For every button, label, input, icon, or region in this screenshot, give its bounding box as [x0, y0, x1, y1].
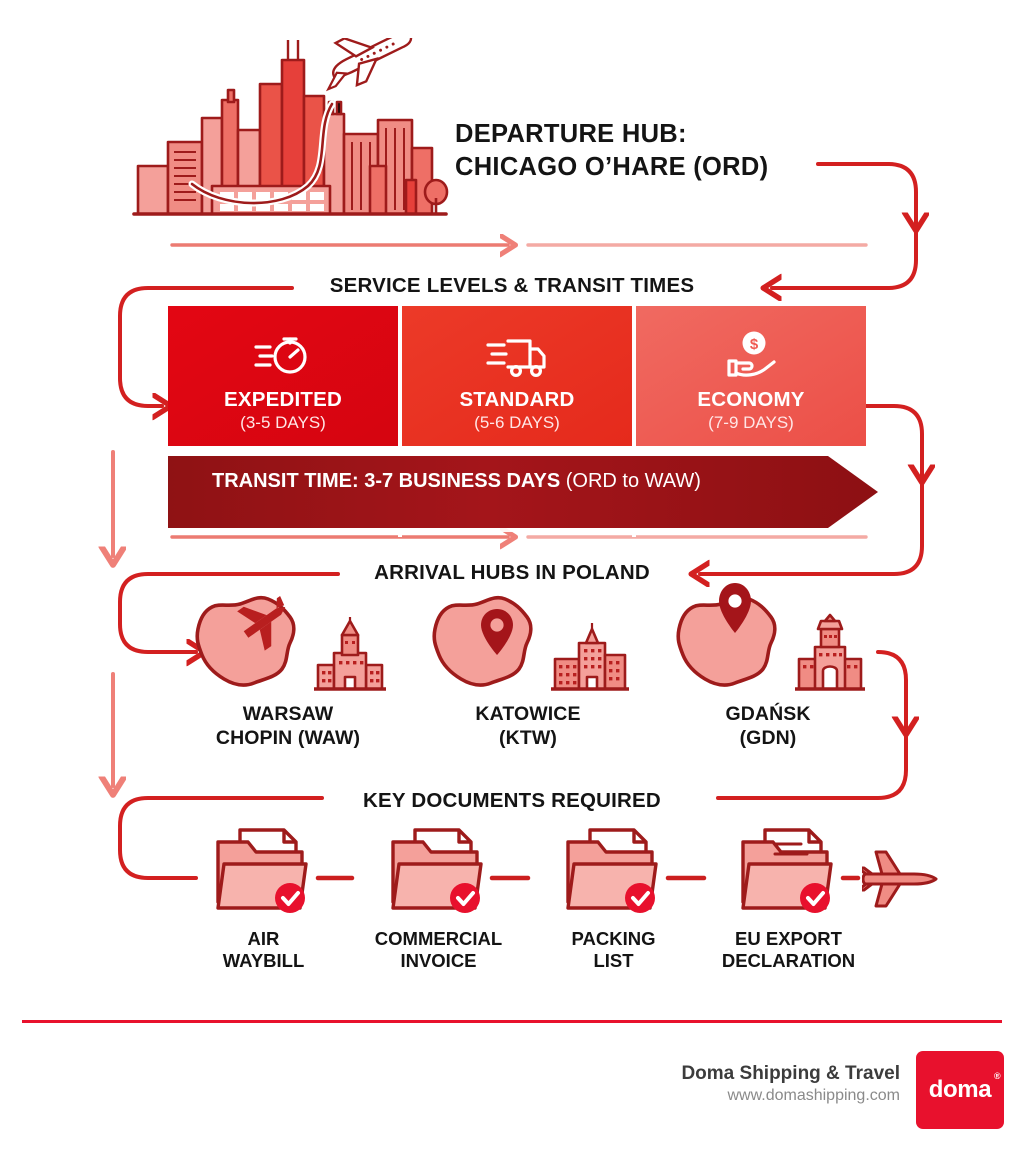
arrival-hubs-group: WARSAW CHOPIN (WAW) [168, 583, 888, 773]
folder-check-icon [385, 822, 493, 922]
section-title-key-documents: KEY DOCUMENTS REQUIRED [0, 789, 1024, 813]
folder-check-icon [210, 822, 318, 922]
document-eu-export-declaration[interactable]: EU EXPORT DECLARATION [701, 822, 876, 987]
service-card-economy[interactable]: $ ECONOMY (7-9 DAYS) [636, 306, 866, 446]
document-label-line2: DECLARATION [722, 950, 855, 972]
hub-katowice[interactable]: KATOWICE (KTW) [408, 583, 648, 773]
hub-label-line1: GDAŃSK [725, 703, 810, 727]
poland-map-plane-icon [190, 587, 312, 695]
service-levels-group: EXPEDITED (3-5 DAYS) STANDARD [168, 306, 866, 446]
footer-divider [22, 1020, 1002, 1023]
service-days: (3-5 DAYS) [240, 413, 326, 433]
registered-mark-icon: ® [994, 1071, 1000, 1081]
document-label-line1: PACKING [572, 928, 656, 950]
document-air-waybill[interactable]: AIR WAYBILL [176, 822, 351, 987]
transit-bold-text: TRANSIT TIME: 3-7 BUSINESS DAYS [212, 470, 560, 492]
doma-logo[interactable]: doma ® [916, 1051, 1004, 1129]
document-label-line1: COMMERCIAL [375, 928, 502, 950]
service-name: ECONOMY [697, 388, 804, 412]
delivery-truck-icon [486, 328, 548, 384]
document-label-line2: LIST [572, 950, 656, 972]
footer-website[interactable]: www.domashipping.com [727, 1087, 900, 1105]
service-name: EXPEDITED [224, 388, 342, 412]
page-title: DEPARTURE HUB: CHICAGO O’HARE (ORD) [455, 118, 875, 183]
logo-text: doma [929, 1076, 991, 1103]
hub-warsaw[interactable]: WARSAW CHOPIN (WAW) [168, 583, 408, 773]
katowice-office-buildings-icon [551, 617, 629, 695]
hub-gdansk[interactable]: GDAŃSK (GDN) [648, 583, 888, 773]
transit-light-text: (ORD to WAW) [566, 470, 701, 492]
service-card-standard[interactable]: STANDARD (5-6 DAYS) [402, 306, 632, 446]
airplane-icon [862, 848, 946, 910]
transit-time-banner: TRANSIT TIME: 3-7 BUSINESS DAYS (ORD to … [168, 452, 888, 516]
gdansk-tower-gate-icon [795, 613, 865, 695]
document-label-line2: INVOICE [375, 950, 502, 972]
section-title-service-levels: SERVICE LEVELS & TRANSIT TIMES [0, 274, 1024, 298]
folder-check-icon [560, 822, 668, 922]
document-label-line1: AIR [223, 928, 305, 950]
document-commercial-invoice[interactable]: COMMERCIAL INVOICE [351, 822, 526, 987]
service-card-expedited[interactable]: EXPEDITED (3-5 DAYS) [168, 306, 398, 446]
folder-check-icon [735, 822, 843, 922]
hub-label-line2: (KTW) [475, 727, 580, 751]
footer-company-name: Doma Shipping & Travel [681, 1063, 900, 1085]
document-label-line1: EU EXPORT [722, 928, 855, 950]
service-days: (7-9 DAYS) [708, 413, 794, 433]
hub-label-line2: CHOPIN (WAW) [216, 727, 360, 751]
service-days: (5-6 DAYS) [474, 413, 560, 433]
document-label-line2: WAYBILL [223, 950, 305, 972]
hand-holding-coin-icon: $ [723, 328, 779, 384]
section-title-arrival-hubs: ARRIVAL HUBS IN POLAND [0, 561, 1024, 585]
warsaw-palace-of-culture-icon [314, 617, 386, 695]
infographic-canvas: DEPARTURE HUB: CHICAGO O’HARE (ORD) SERV… [0, 0, 1024, 1154]
stopwatch-icon [254, 328, 312, 384]
poland-map-pin-north-icon [671, 583, 793, 695]
documents-group: AIR WAYBILL COMMERCIAL [176, 822, 876, 987]
chicago-skyline-icon [130, 38, 450, 223]
service-name: STANDARD [459, 388, 574, 412]
hub-label-line1: KATOWICE [475, 703, 580, 727]
hero-title-line1: DEPARTURE HUB: [455, 120, 687, 148]
hub-label-line2: (GDN) [725, 727, 810, 751]
hub-label-line1: WARSAW [216, 703, 360, 727]
svg-text:$: $ [750, 336, 759, 353]
hero-title-line2: CHICAGO O’HARE (ORD) [455, 151, 875, 184]
poland-map-pin-icon [427, 587, 549, 695]
document-packing-list[interactable]: PACKING LIST [526, 822, 701, 987]
